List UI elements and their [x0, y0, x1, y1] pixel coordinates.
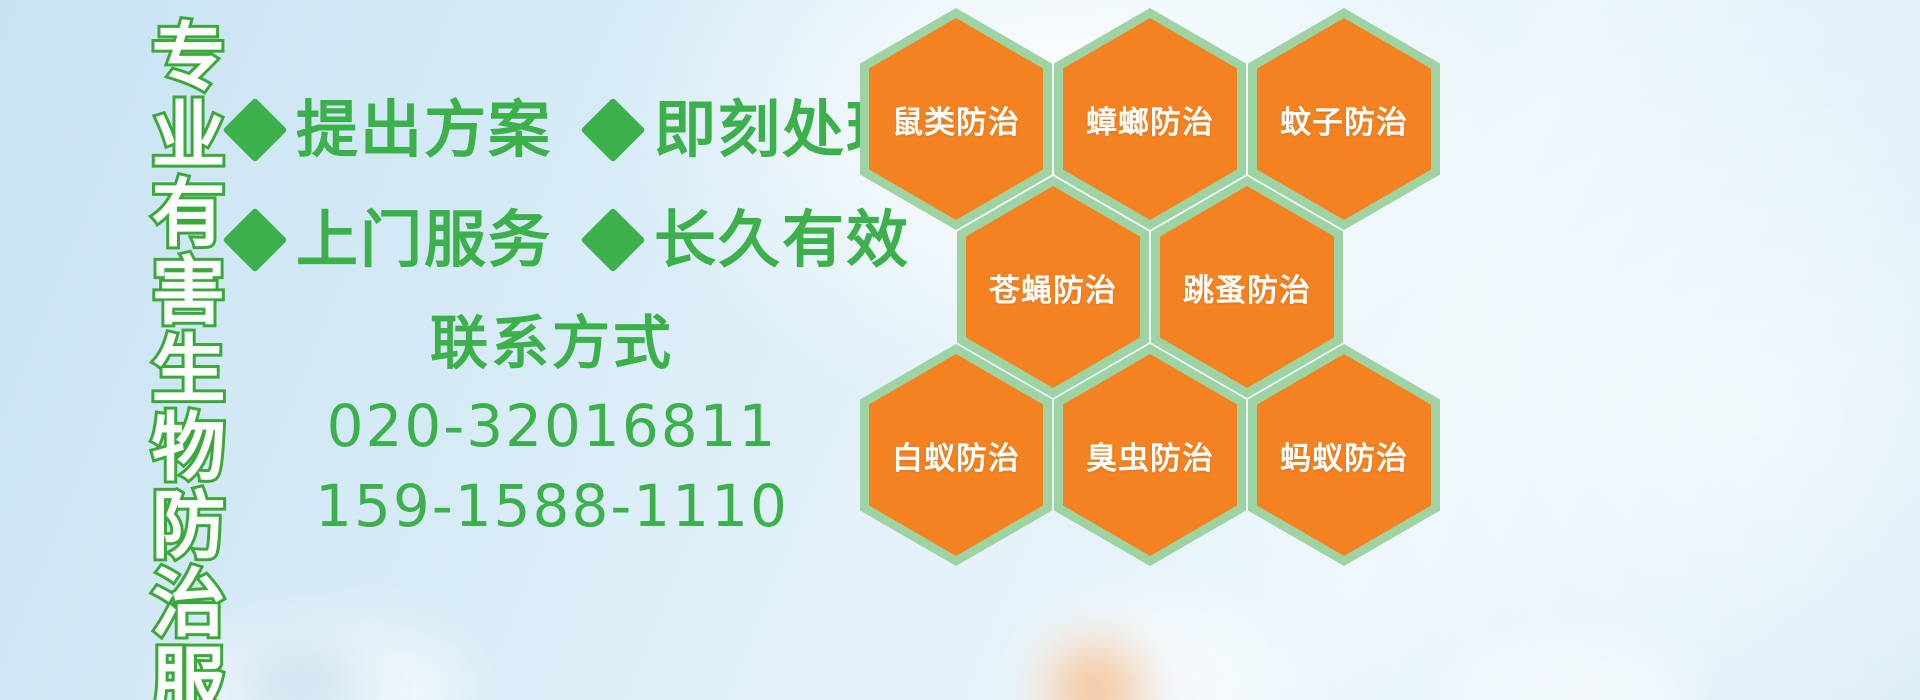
diamond-icon	[222, 207, 287, 272]
service-label: 蚂蚁防治	[1248, 344, 1440, 566]
feature-row: 上门服务 长久有效	[232, 192, 872, 288]
background-glow-blob	[240, 648, 360, 700]
service-honeycomb: 鼠类防治 蟑螂防治 蚊子防治 苍蝇防治 跳蚤防治 白蚁防治	[860, 0, 1480, 700]
background-glow-blob	[1450, 640, 1690, 700]
phone-number-mobile[interactable]: 159-1588-1110	[232, 466, 872, 546]
feature-item: 提出方案	[232, 99, 552, 161]
service-hex-termite[interactable]: 白蚁防治	[860, 344, 1052, 566]
service-label: 白蚁防治	[860, 344, 1052, 566]
contact-block: 联系方式 020-32016811 159-1588-1110	[232, 312, 872, 546]
phone-number-landline[interactable]: 020-32016811	[232, 386, 872, 466]
vertical-headline: 专业有害生物防治服务	[104, 18, 220, 700]
service-label: 臭虫防治	[1054, 344, 1246, 566]
service-hex-ant[interactable]: 蚂蚁防治	[1248, 344, 1440, 566]
diamond-icon	[222, 97, 287, 162]
contact-heading: 联系方式	[232, 312, 872, 376]
diamond-icon	[580, 97, 645, 162]
feature-label: 提出方案	[296, 99, 552, 161]
service-hex-bedbug[interactable]: 臭虫防治	[1054, 344, 1246, 566]
promo-banner: 专业有害生物防治服务 提出方案 即刻处理 上门服务 长久有效 联系方式	[0, 0, 1920, 700]
feature-item: 上门服务	[232, 209, 552, 271]
diamond-icon	[580, 207, 645, 272]
feature-list: 提出方案 即刻处理 上门服务 长久有效	[232, 82, 872, 302]
feature-label: 上门服务	[296, 209, 552, 271]
feature-row: 提出方案 即刻处理	[232, 82, 872, 178]
